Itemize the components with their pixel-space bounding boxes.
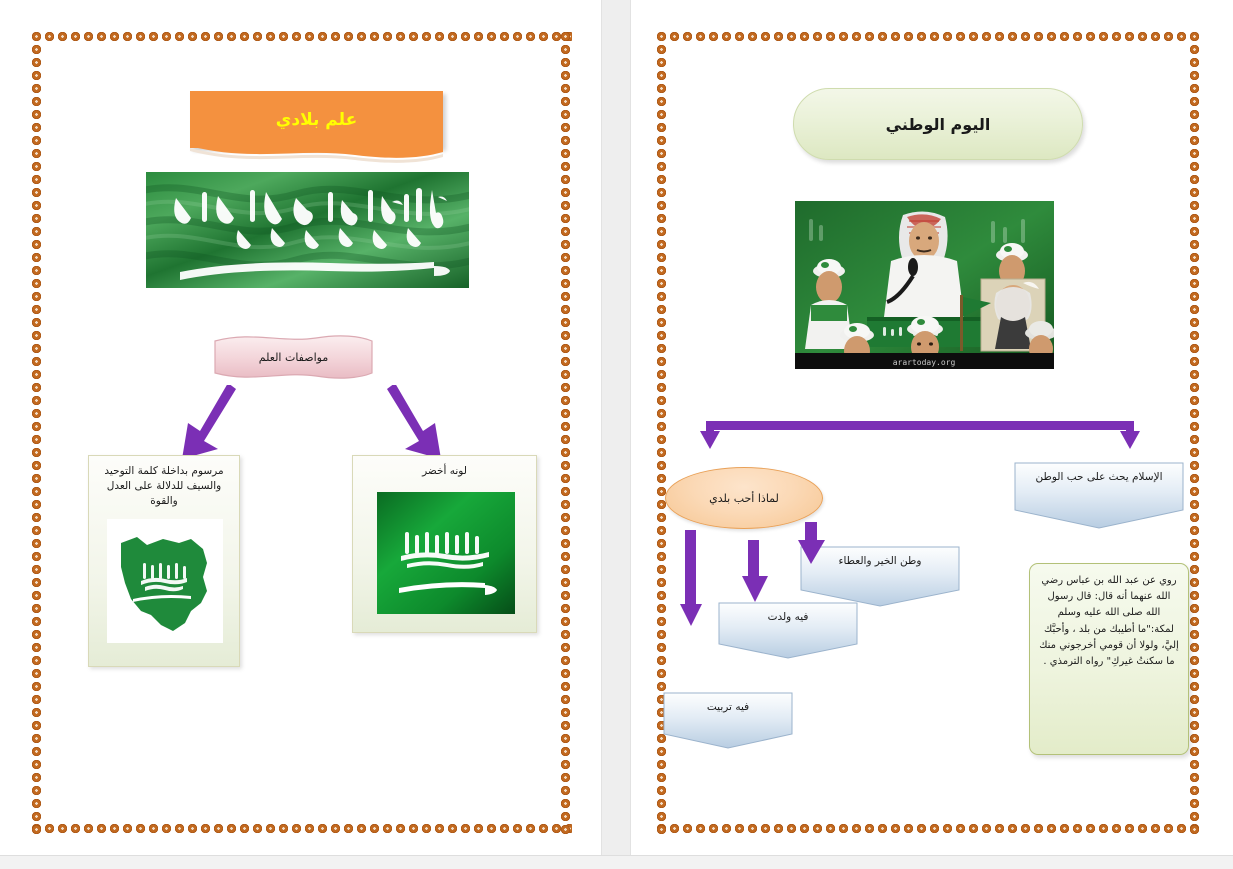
svg-text:arartoday.org: arartoday.org	[893, 358, 956, 367]
page-gap	[602, 0, 630, 868]
border-bottom	[655, 822, 1201, 835]
box-caption: لونه أخضر	[353, 456, 536, 483]
arrow-to-right-box	[375, 385, 445, 463]
box-flag-emblem-description: مرسوم بداخلة كلمة التوحيد والسيف للدلالة…	[88, 455, 240, 667]
border-top	[655, 30, 1201, 43]
ribbon-flag-specifications: مواصفات العلم	[212, 333, 375, 381]
border-right	[1188, 30, 1201, 835]
page-left: علم بلادي	[0, 0, 602, 855]
hadith-text: روي عن عبد الله بن عباس رضي الله عنهما أ…	[1039, 573, 1179, 670]
saudi-flag-green-image	[377, 492, 515, 614]
border-right	[559, 30, 572, 835]
pentagon-label: فيه ولدت	[718, 610, 858, 625]
pentagon-i-was-born-there: فيه ولدت	[718, 602, 858, 660]
box-caption: مرسوم بداخلة كلمة التوحيد والسيف للدلالة…	[89, 456, 239, 514]
title-banner-text: علم بلادي	[276, 110, 357, 130]
border-top	[30, 30, 572, 43]
document-workspace: علم بلادي	[0, 0, 1233, 868]
saudi-map-with-flag-image	[107, 519, 223, 643]
ellipse-label: لماذا أحب بلدي	[709, 492, 779, 505]
pentagon-label: وطن الخير والعطاء	[800, 554, 960, 569]
page-bottom-edge	[0, 855, 1233, 869]
arrow-to-left-box	[178, 385, 248, 463]
hadith-text-box: روي عن عبد الله بن عباس رضي الله عنهما أ…	[1029, 563, 1189, 755]
box-flag-color-description: لونه أخضر	[352, 455, 537, 633]
pentagon-islam-encourages-love-of-homeland: الإسلام يحث على حب الوطن	[1014, 462, 1184, 530]
national-day-celebration-photo: arartoday.org	[795, 201, 1054, 369]
arrow-ellipse-down-right	[742, 540, 780, 608]
pentagon-label: الإسلام يحث على حب الوطن	[1014, 470, 1184, 485]
title-pill-text: اليوم الوطني	[886, 115, 991, 134]
pentagon-label: فيه تربيت	[663, 700, 793, 715]
saudi-flag-waving-photo	[146, 172, 469, 288]
title-banner-my-country-flag: علم بلادي	[190, 91, 443, 148]
purple-bracket-connector	[700, 418, 1140, 452]
border-left	[30, 30, 43, 835]
title-pill-national-day: اليوم الوطني	[793, 88, 1083, 160]
title-banner-wave-decoration	[190, 146, 443, 166]
border-bottom	[30, 822, 572, 835]
pentagon-i-was-raised-there: فيه تربيت	[663, 692, 793, 750]
arrow-ellipse-down	[680, 530, 702, 628]
ellipse-why-i-love-my-country: لماذا أحب بلدي	[665, 467, 823, 529]
pentagon-land-of-goodness-and-giving: وطن الخير والعطاء	[800, 546, 960, 608]
ribbon-label: مواصفات العلم	[212, 333, 375, 381]
